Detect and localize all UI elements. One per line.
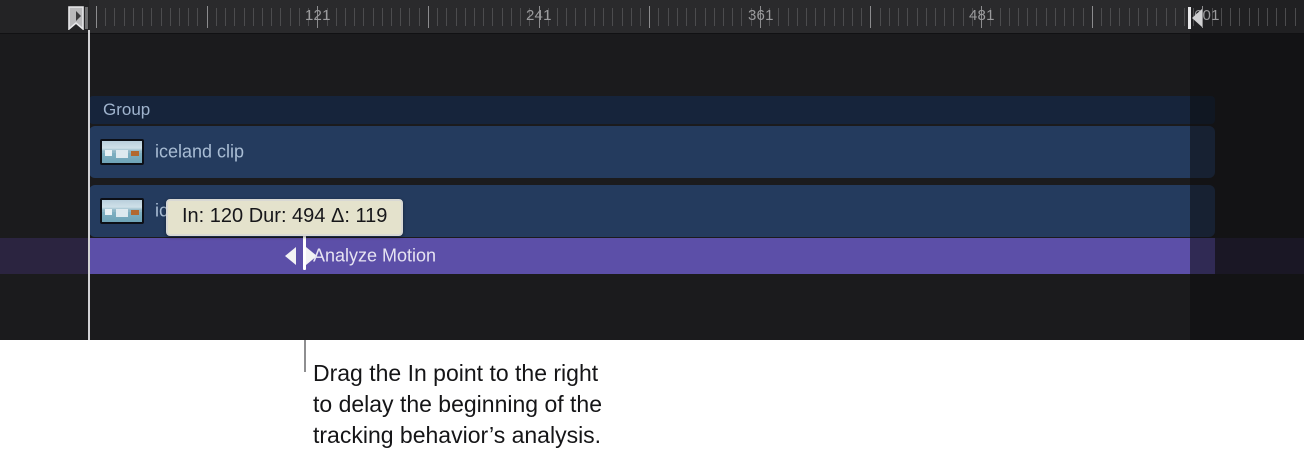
ruler-tick: [1295, 8, 1296, 26]
clip-thumbnail-1: [100, 139, 144, 165]
ruler-tick: [133, 8, 134, 26]
ruler-tick: [834, 8, 835, 26]
ruler-tick: [668, 8, 669, 26]
ruler-tick: [1000, 8, 1001, 26]
ruler-tick: [852, 8, 853, 26]
ruler-tick: [1046, 8, 1047, 26]
trim-left-handle-icon[interactable]: [285, 247, 296, 265]
ruler-tick: [824, 8, 825, 26]
ruler-tick: [234, 8, 235, 26]
ruler-tick: [437, 8, 438, 26]
ruler-tick: [1276, 8, 1277, 26]
ruler-tick: [1110, 8, 1111, 26]
ruler-tick: [1175, 8, 1176, 26]
ruler-tick: [446, 8, 447, 26]
ruler-tick: [170, 8, 171, 26]
ruler-tick: [151, 8, 152, 26]
ruler-tick: [225, 8, 226, 26]
ruler-tick: [161, 8, 162, 26]
ruler-tick: [1119, 8, 1120, 26]
ruler-tick: [1221, 8, 1222, 26]
ruler-tick: [898, 8, 899, 26]
ruler-tick: [124, 8, 125, 26]
ruler-tick: [373, 8, 374, 26]
ruler-tick: [953, 8, 954, 26]
ruler-tick: [1083, 8, 1084, 26]
ruler-tick: [778, 8, 779, 26]
ruler-tick: [732, 8, 733, 26]
timeline-tracks: Group iceland clip iceland clip: [0, 34, 1304, 340]
ruler-tick: [889, 8, 890, 26]
ruler-tick: [640, 8, 641, 26]
track-group-label: Group: [103, 100, 150, 120]
timeline-panel: 121241361481601 Group: [0, 0, 1304, 340]
ruler-tick: [658, 8, 659, 26]
ruler-tick: [197, 8, 198, 26]
ruler-tick: [603, 8, 604, 26]
ruler-tick-label: 121: [305, 7, 331, 24]
ruler-tick: [253, 8, 254, 26]
ruler-tick: [585, 8, 586, 26]
track-clip-label-1: iceland clip: [155, 142, 244, 163]
ruler-tick: [944, 8, 945, 26]
ruler-tick: [843, 8, 844, 26]
playhead-line[interactable]: [88, 30, 90, 340]
ruler-tick: [207, 6, 208, 28]
ruler-tick: [815, 8, 816, 26]
ruler-tick: [566, 8, 567, 26]
ruler-tick: [649, 6, 650, 28]
ruler-tick: [290, 8, 291, 26]
ruler-tick: [1129, 8, 1130, 26]
ruler-tick: [1249, 8, 1250, 26]
timeline-ruler[interactable]: 121241361481601: [0, 0, 1304, 34]
ruler-tick: [271, 8, 272, 26]
ruler-tick: [870, 6, 871, 28]
ruler-tick: [363, 8, 364, 26]
ruler-tick: [280, 8, 281, 26]
ruler-tick-label: 241: [526, 7, 552, 24]
ruler-tick: [705, 8, 706, 26]
ruler-tick: [622, 8, 623, 26]
ruler-tick: [612, 8, 613, 26]
ruler-tick: [1101, 8, 1102, 26]
ruler-tick: [1285, 8, 1286, 26]
ruler-tick: [354, 8, 355, 26]
ruler-tick: [935, 8, 936, 26]
ruler-tick: [474, 8, 475, 26]
ruler-tick: [594, 8, 595, 26]
ruler-tick: [391, 8, 392, 26]
ruler-tick: [677, 8, 678, 26]
ruler-tick: [723, 8, 724, 26]
analyze-motion-label: Analyze Motion: [313, 246, 436, 267]
ruler-tick: [907, 8, 908, 26]
ruler-tick: [1009, 8, 1010, 26]
ruler-tick: [631, 8, 632, 26]
ruler-tick: [1147, 8, 1148, 26]
screenshot-root: 121241361481601 Group: [0, 0, 1304, 474]
callout-text: Drag the In point to the right to delay …: [313, 358, 602, 451]
track-clip-bar-1[interactable]: iceland clip: [89, 126, 1215, 178]
ruler-tick: [409, 8, 410, 26]
ruler-tick: [179, 8, 180, 26]
ruler-tick: [806, 8, 807, 26]
callout-leader-line: [304, 340, 306, 372]
ruler-tick: [797, 8, 798, 26]
ruler-tick: [1184, 8, 1185, 26]
ruler-tick: [428, 6, 429, 28]
ruler-tick: [1267, 8, 1268, 26]
ruler-tick: [400, 8, 401, 26]
ruler-tick: [917, 8, 918, 26]
ruler-tick: [492, 8, 493, 26]
ruler-tick: [142, 8, 143, 26]
ruler-tick: [1138, 8, 1139, 26]
ruler-tick: [419, 8, 420, 26]
analyze-motion-bar[interactable]: [89, 238, 1215, 274]
ruler-tick: [741, 8, 742, 26]
ruler-tick: [216, 8, 217, 26]
ruler-tick: [575, 8, 576, 26]
ruler-tick: [1073, 8, 1074, 26]
ruler-tick: [502, 8, 503, 26]
ruler-tick: [1092, 6, 1093, 28]
ruler-tick: [686, 8, 687, 26]
ruler-tick: [244, 8, 245, 26]
out-point-marker[interactable]: [1188, 6, 1206, 30]
ruler-tick-label: 361: [748, 7, 774, 24]
ruler-tick: [557, 8, 558, 26]
clip-thumbnail-2: [100, 198, 144, 224]
ruler-tick: [695, 8, 696, 26]
ruler-tick: [1055, 8, 1056, 26]
ruler-tick: [511, 8, 512, 26]
ruler-tick: [1156, 8, 1157, 26]
ruler-tick: [465, 8, 466, 26]
ruler-tick: [336, 8, 337, 26]
ruler-tick: [105, 8, 106, 26]
ruler-tick: [1064, 8, 1065, 26]
ruler-tick: [1166, 8, 1167, 26]
ruler-tick: [1018, 8, 1019, 26]
ruler-tick: [483, 8, 484, 26]
ruler-tick: [1027, 8, 1028, 26]
ruler-tick: [520, 8, 521, 26]
ruler-tick: [262, 8, 263, 26]
ruler-tick: [963, 8, 964, 26]
ruler-tick: [299, 8, 300, 26]
drag-in-point-indicator[interactable]: [303, 234, 306, 270]
ruler-tick: [114, 8, 115, 26]
drag-info-tooltip: In: 120 Dur: 494 Δ: 119: [166, 199, 403, 236]
ruler-tick: [96, 6, 97, 28]
ruler-tick: [345, 8, 346, 26]
ruler-tick: [788, 8, 789, 26]
ruler-tick: [382, 8, 383, 26]
ruler-tick: [1036, 8, 1037, 26]
ruler-tick-label: 481: [969, 7, 995, 24]
ruler-tick: [1239, 8, 1240, 26]
behavior-track-row[interactable]: Analyze Motion: [0, 238, 1304, 274]
ruler-tick: [861, 8, 862, 26]
in-point-marker[interactable]: [68, 6, 90, 30]
ruler-tick: [714, 8, 715, 26]
ruler-tick: [456, 8, 457, 26]
ruler-tick: [926, 8, 927, 26]
ruler-tick: [1230, 8, 1231, 26]
track-group-bar[interactable]: Group: [89, 96, 1215, 124]
ruler-tick: [880, 8, 881, 26]
ruler-tick: [1258, 8, 1259, 26]
ruler-tick: [188, 8, 189, 26]
